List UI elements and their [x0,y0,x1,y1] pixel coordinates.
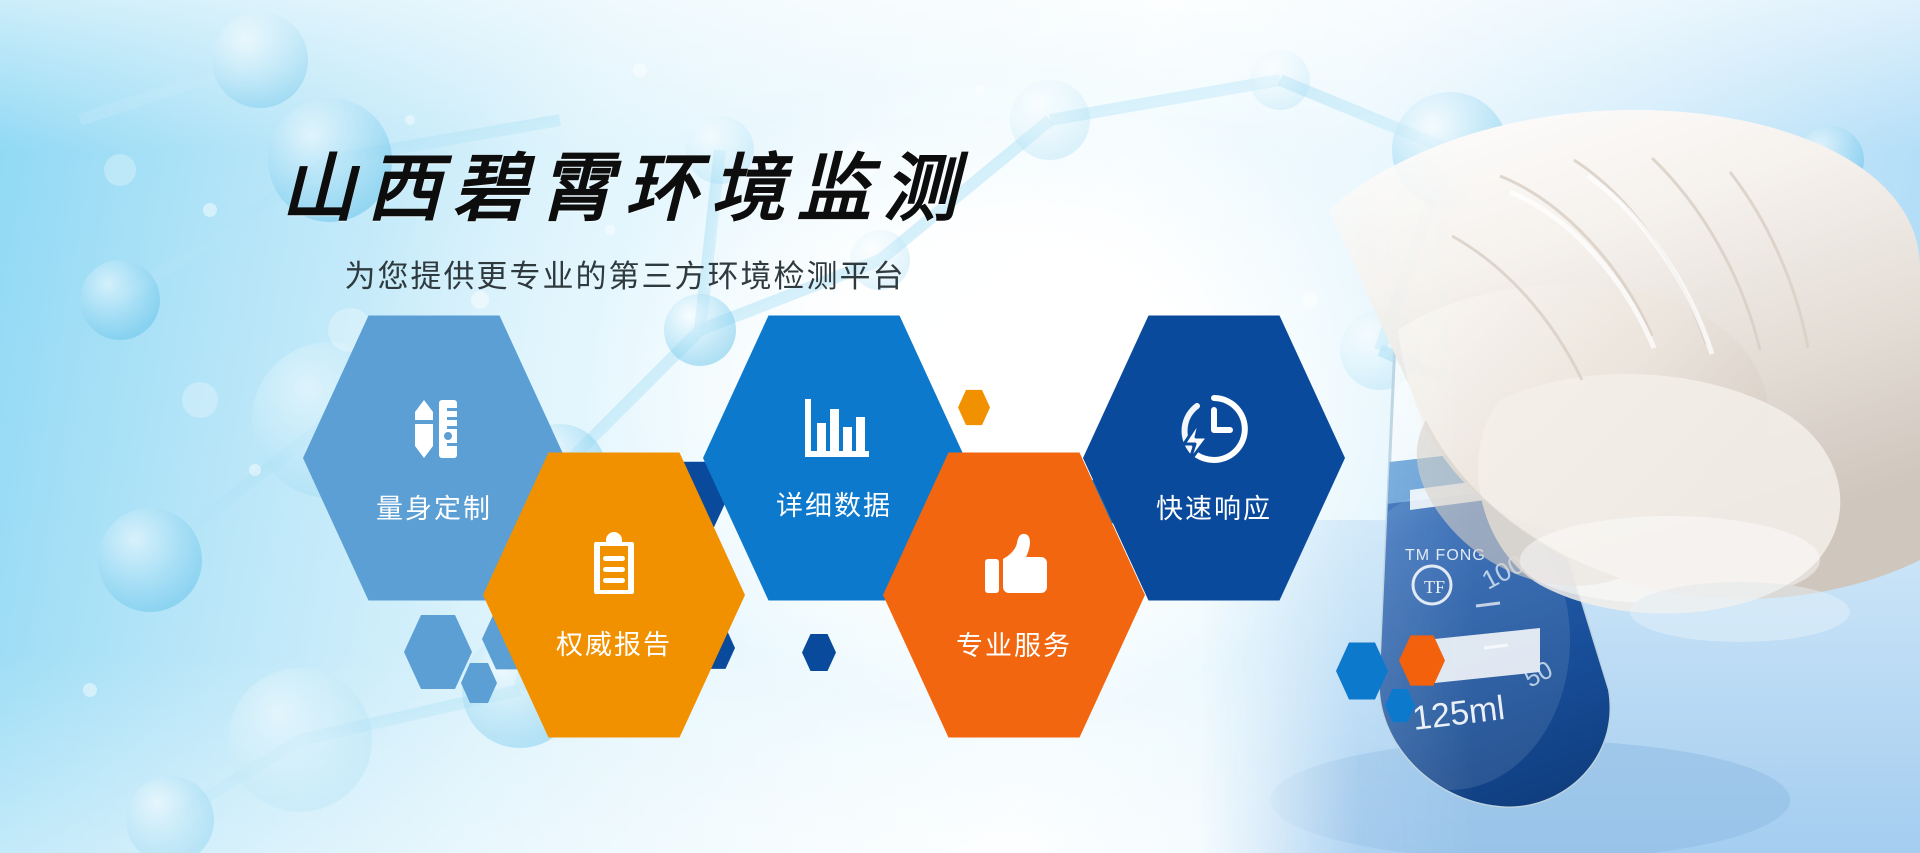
feature-hexagon-group: 量身定制 权威报告 [0,0,1920,853]
feature-hexagon-label: 专业服务 [956,624,1072,663]
thumbs-up-icon [975,527,1053,610]
decorative-hexagon [958,389,990,426]
clock-bolt-icon [1174,390,1254,473]
decorative-hexagon [1336,641,1388,701]
bar-chart-icon [795,393,873,470]
decorative-hexagon [802,633,836,672]
feature-hexagon-label: 权威报告 [556,623,672,662]
feature-hexagon-label: 量身定制 [376,487,492,526]
decorative-hexagon [461,662,497,704]
clipboard-icon [576,528,652,609]
pencil-ruler-icon [395,390,473,473]
hero-banner: 125ml 100 50 TM FONG TF [0,0,1920,853]
feature-hexagon-label: 详细数据 [776,484,892,523]
decorative-hexagon [1385,688,1415,723]
decorative-hexagon [1399,634,1445,687]
feature-hexagon-label: 快速响应 [1156,487,1272,526]
decorative-hexagon [404,613,472,691]
